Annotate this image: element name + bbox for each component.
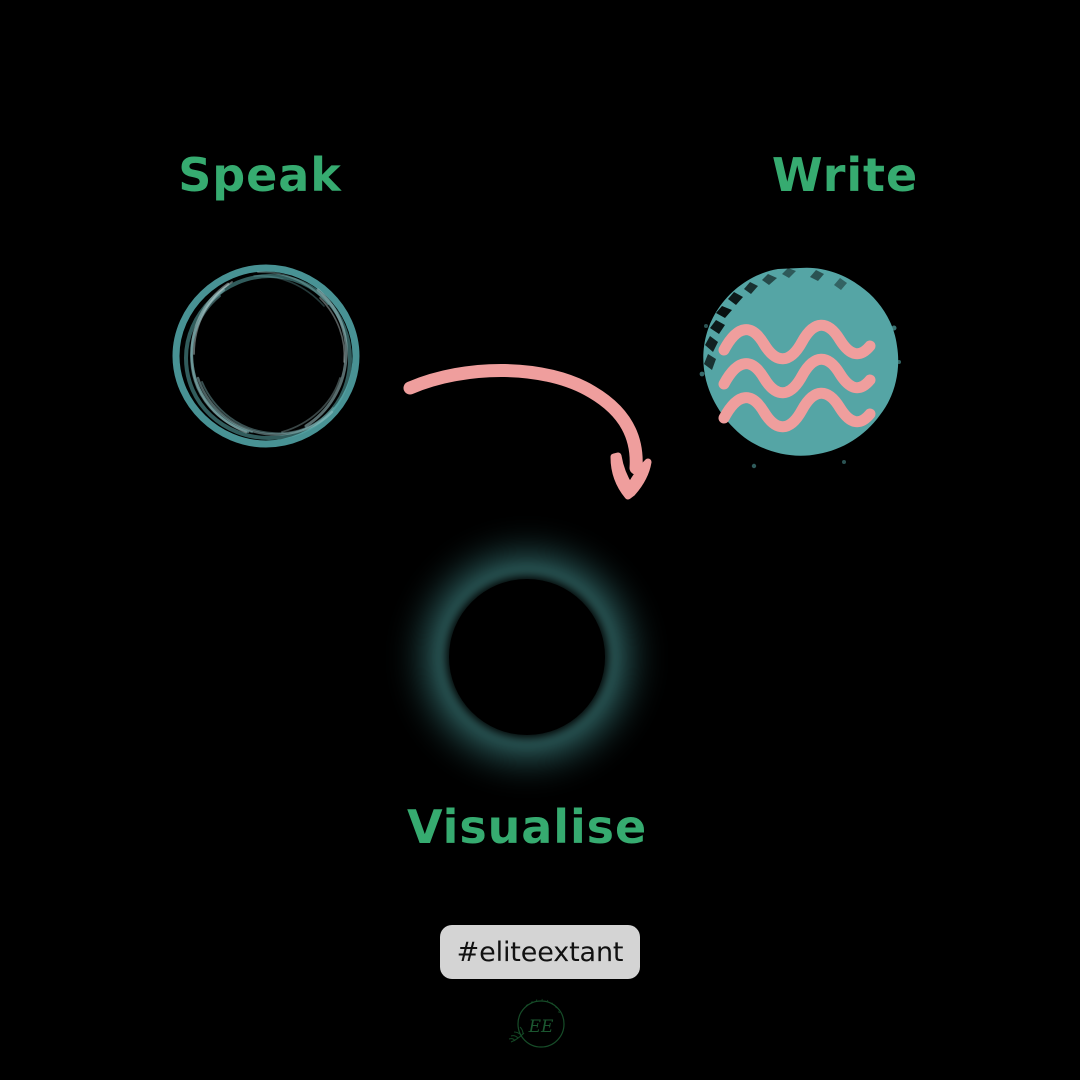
svg-text:EE: EE [528,1017,554,1037]
node-label-write: Write [585,148,1080,202]
elite-extant-monogram-logo: EE [505,993,575,1059]
node-label-speak: Speak [0,148,520,202]
sketch-circle-outline-icon [168,258,364,454]
teal-circle-squiggle-lines-icon [694,262,906,474]
poster-canvas: Speak Write [0,0,1080,1080]
hashtag-badge-label: #eliteextant [457,937,624,968]
curved-arrow-icon [396,340,666,510]
node-label-visualise: Visualise [277,800,777,854]
eclipse-core-disc [449,579,605,735]
eclipse-glow-circle-icon [380,510,674,804]
hashtag-badge[interactable]: #eliteextant [440,925,640,979]
